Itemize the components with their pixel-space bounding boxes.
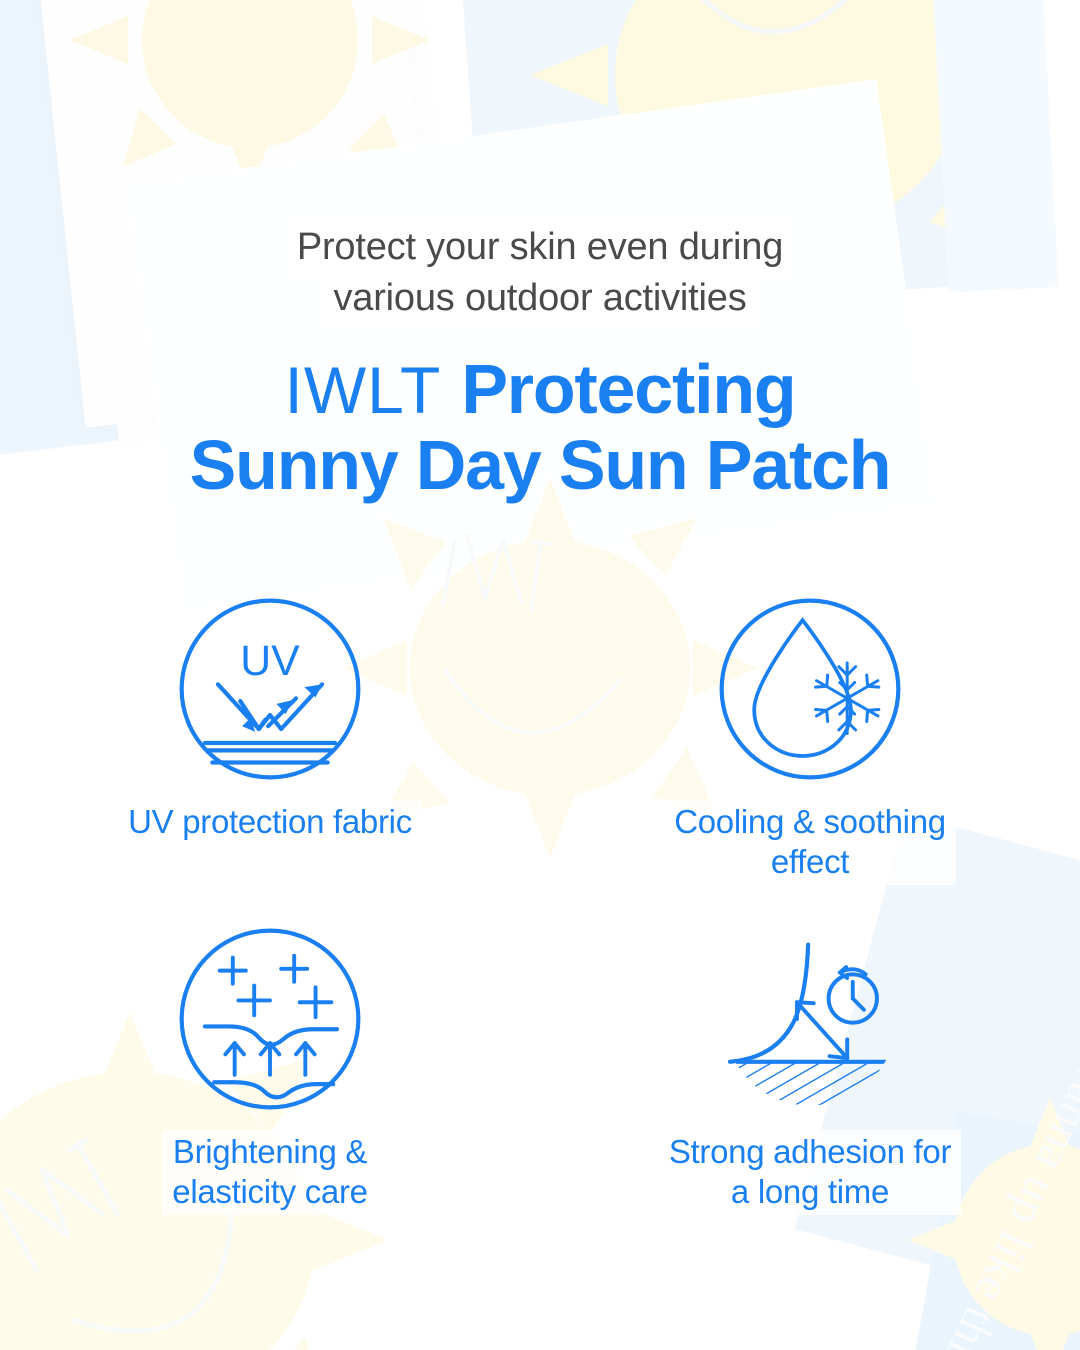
content-layer: Protect your skin even during various ou… — [0, 0, 1080, 1350]
feature-label-adhesion: Strong adhesion for a long time — [659, 1130, 961, 1215]
feature-grid: UV — [0, 596, 1080, 1256]
headline-line-1: IWLTProtecting — [0, 352, 1080, 428]
subtitle-line-2: various outdoor activities — [327, 273, 752, 324]
subtitle-line-1: Protect your skin even during — [291, 222, 789, 273]
strong-adhesion-clock-icon — [717, 926, 903, 1112]
snowflake-shape — [816, 663, 879, 734]
product-feature-infographic: i wanna up like this Protect your skin e… — [0, 0, 1080, 1350]
feature-item-adhesion: Strong adhesion for a long time — [540, 926, 1080, 1256]
feature-label-uv-protection: UV protection fabric — [118, 800, 422, 844]
clock-icon — [829, 967, 877, 1023]
feature-label-line-1: Cooling & soothing — [674, 803, 946, 840]
droplet-shape — [754, 620, 851, 756]
uv-icon-text: UV — [240, 637, 300, 685]
feature-label-brightening: Brightening & elasticity care — [162, 1130, 377, 1215]
headline-word-protecting: Protecting — [461, 350, 795, 428]
subtitle: Protect your skin even during various ou… — [0, 222, 1080, 325]
brightening-elasticity-icon — [177, 926, 363, 1112]
feature-item-cooling: Cooling & soothing effect — [540, 596, 1080, 926]
feature-item-uv-protection: UV — [0, 596, 540, 926]
headline-line-2: Sunny Day Sun Patch — [0, 428, 1080, 504]
feature-label-line-2: effect — [771, 843, 849, 880]
feature-label-line-1: Strong adhesion for — [669, 1133, 951, 1170]
page-title: IWLTProtecting Sunny Day Sun Patch — [0, 352, 1080, 503]
cooling-droplet-snowflake-icon — [717, 596, 903, 782]
adhesion-arrow — [797, 1002, 847, 1058]
feature-label-line-2: a long time — [731, 1173, 889, 1210]
feature-label-cooling: Cooling & soothing effect — [664, 800, 956, 885]
brand-name: IWLT — [285, 353, 442, 427]
hatched-surface — [717, 1062, 903, 1112]
feature-label-line-2: elasticity care — [172, 1173, 367, 1210]
uv-protection-icon: UV — [177, 596, 363, 782]
up-arrows-group — [225, 1043, 314, 1075]
feature-item-brightening: Brightening & elasticity care — [0, 926, 540, 1256]
feature-label-line-1: Brightening & — [173, 1133, 367, 1170]
feature-label-line-1: UV protection fabric — [128, 803, 412, 840]
sparkles-group — [220, 956, 332, 1017]
